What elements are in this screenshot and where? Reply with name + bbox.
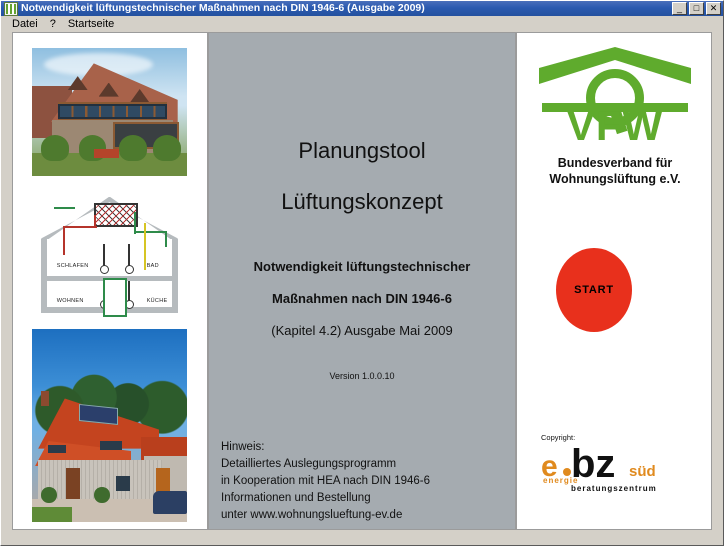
copyright-block: Copyright: e bz süd energie beratungszen… [541,433,687,492]
window-title: Notwendigkeit lüftungstechnischer Maßnah… [21,1,425,16]
status-strip [1,532,723,545]
menu-item-help[interactable]: ? [44,17,62,32]
diagram-label-bad: BAD [147,263,159,269]
photo-house-brick-dormers [32,48,187,176]
note-line1: Hinweis: [221,439,511,456]
menu-item-startseite[interactable]: Startseite [62,17,120,32]
diagram-label-wohnen: WOHNEN [57,298,84,304]
ebz-sued-logo: e bz süd energie beratungszentrum [541,444,687,492]
ebz-logo-dot-icon [563,468,571,476]
right-branding-panel: VFW Bundesverband für Wohnungslüftung e.… [516,32,712,530]
client-area: SCHLAFEN BAD WOHNEN KÜCHE [1,32,723,532]
diagram-label-kueche: KÜCHE [147,298,168,304]
ebz-logo-beratungszentrum: beratungszentrum [571,484,657,493]
page-title-line2: Lüftungskonzept [209,189,515,215]
start-button[interactable]: START [556,248,632,332]
vfw-subtitle-line2: Wohnungslüftung e.V. [531,171,699,187]
close-button[interactable]: ✕ [706,2,721,15]
version-label: Version 1.0.0.10 [209,371,515,381]
note-line3: in Kooperation mit HEA nach DIN 1946-6 [221,473,511,490]
maximize-button[interactable]: □ [689,2,704,15]
application-window: Notwendigkeit lüftungstechnischer Maßnah… [0,0,724,546]
minimize-button[interactable]: _ [672,2,687,15]
subtitle-line3: (Kapitel 4.2) Ausgabe Mai 2009 [209,323,515,338]
note-line2: Detailliertes Auslegungsprogramm [221,456,511,473]
vfw-subtitle-line1: Bundesverband für [531,155,699,171]
diagram-label-schlafen: SCHLAFEN [57,263,89,269]
subtitle-line1: Notwendigkeit lüftungstechnischer [209,259,515,274]
diagram-ventilation-section: SCHLAFEN BAD WOHNEN KÜCHE [32,186,187,318]
maximize-icon: □ [690,3,703,14]
note-line5: unter www.wohnungslueftung-ev.de [221,507,511,524]
minimize-icon: _ [673,3,686,14]
vfw-logo-subtitle: Bundesverband für Wohnungslüftung e.V. [531,155,699,187]
title-bar: Notwendigkeit lüftungstechnischer Maßnah… [1,1,723,16]
vfw-logo: VFW Bundesverband für Wohnungslüftung e.… [531,47,699,187]
vfw-logo-letters: VFW [531,105,699,147]
window-controls: _ □ ✕ [672,2,721,15]
menu-bar: Datei ? Startseite [1,16,723,32]
menu-item-datei[interactable]: Datei [6,17,44,32]
close-icon: ✕ [707,3,720,14]
subtitle-line2: Maßnahmen nach DIN 1946-6 [209,291,515,306]
copyright-label: Copyright: [541,433,687,442]
center-content-panel: Planungstool Lüftungskonzept Notwendigke… [208,32,516,530]
app-icon [4,2,18,16]
page-title-line1: Planungstool [209,138,515,164]
left-image-panel: SCHLAFEN BAD WOHNEN KÜCHE [12,32,208,530]
note-line4: Informationen und Bestellung [221,490,511,507]
note-block: Hinweis: Detailliertes Auslegungsprogram… [221,439,511,524]
photo-house-red-roof-solar [32,329,187,522]
ebz-logo-sued: süd [629,464,656,479]
